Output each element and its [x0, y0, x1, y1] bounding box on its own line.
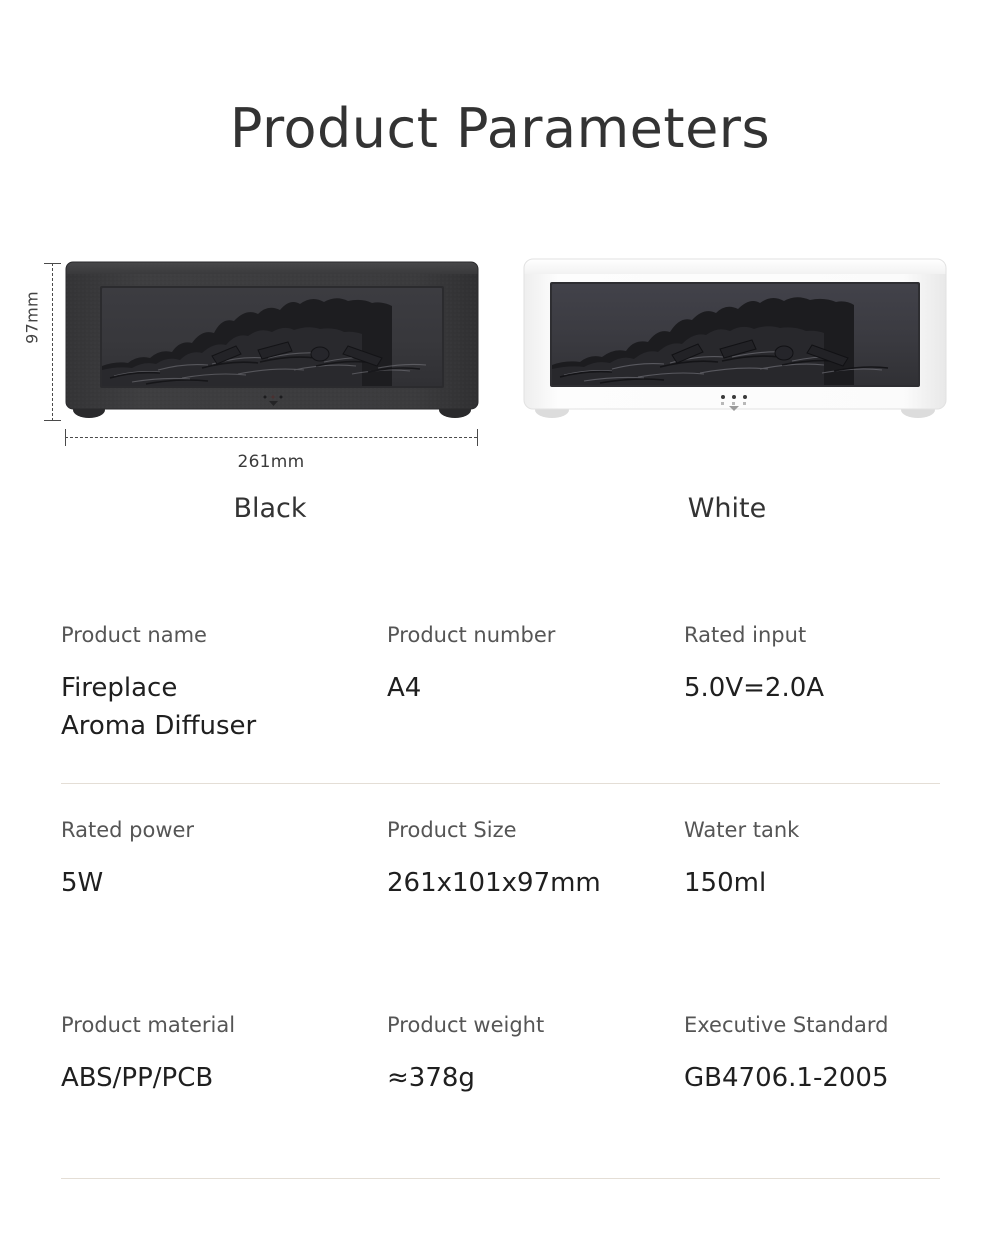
spec-label: Water tank: [684, 817, 974, 844]
spec-label: Product Size: [387, 817, 667, 844]
spec-value-line: Aroma Diffuser: [61, 708, 371, 746]
spec-value: A4: [387, 670, 667, 708]
spec-label: Rated power: [61, 817, 371, 844]
spec-row: Rated power 5W Product Size 261x101x97mm…: [0, 817, 1000, 1012]
height-dimension-line: [52, 263, 53, 421]
spec-cell: Product number A4: [387, 622, 667, 708]
spec-cell: Rated power 5W: [61, 817, 371, 903]
spec-value: 5W: [61, 865, 371, 903]
spec-row: Product name Fireplace Aroma Diffuser Pr…: [0, 622, 1000, 817]
spec-value-line: GB4706.1-2005: [684, 1060, 974, 1098]
width-dimension-cap-left: [65, 429, 66, 446]
spec-value-line: A4: [387, 670, 667, 708]
spec-label: Rated input: [684, 622, 974, 649]
spec-label: Product name: [61, 622, 371, 649]
height-dimension-cap-bottom: [44, 420, 61, 421]
spec-value-line: 150ml: [684, 865, 974, 903]
spec-value-line: 5W: [61, 865, 371, 903]
spec-cell: Executive Standard GB4706.1-2005: [684, 1012, 974, 1098]
spec-cell: Product name Fireplace Aroma Diffuser: [61, 622, 371, 746]
spec-label: Product weight: [387, 1012, 667, 1039]
product-image-white: [520, 255, 950, 420]
spec-table: Product name Fireplace Aroma Diffuser Pr…: [0, 622, 1000, 1207]
spec-value-line: ABS/PP/PCB: [61, 1060, 371, 1098]
spec-cell: Water tank 150ml: [684, 817, 974, 903]
spec-value-line: ≈378g: [387, 1060, 667, 1098]
spec-value: ≈378g: [387, 1060, 667, 1098]
spec-value: Fireplace Aroma Diffuser: [61, 670, 371, 745]
spec-row: Product material ABS/PP/PCB Product weig…: [0, 1012, 1000, 1207]
product-caption-black: Black: [120, 493, 420, 524]
width-dimension-label: 261mm: [65, 452, 477, 472]
spec-value-line: 261x101x97mm: [387, 865, 667, 903]
spec-cell: Product weight ≈378g: [387, 1012, 667, 1098]
spec-value: 261x101x97mm: [387, 865, 667, 903]
spec-cell: Rated input 5.0V=2.0A: [684, 622, 974, 708]
spec-value: ABS/PP/PCB: [61, 1060, 371, 1098]
spec-label: Product material: [61, 1012, 371, 1039]
spec-value-line: 5.0V=2.0A: [684, 670, 974, 708]
height-dimension-cap-top: [44, 263, 61, 264]
product-image-black: [62, 258, 482, 418]
product-caption-white: White: [577, 493, 877, 524]
spec-value-line: Fireplace: [61, 670, 371, 708]
spec-value: 5.0V=2.0A: [684, 670, 974, 708]
spec-row-divider: [61, 783, 940, 784]
height-dimension-label: 97mm: [23, 278, 42, 358]
spec-label: Executive Standard: [684, 1012, 974, 1039]
spec-value: 150ml: [684, 865, 974, 903]
page-title: Product Parameters: [0, 98, 1000, 160]
spec-cell: Product Size 261x101x97mm: [387, 817, 667, 903]
spec-value: GB4706.1-2005: [684, 1060, 974, 1098]
width-dimension-line: [65, 437, 477, 438]
spec-label: Product number: [387, 622, 667, 649]
spec-cell: Product material ABS/PP/PCB: [61, 1012, 371, 1098]
width-dimension-cap-right: [477, 429, 478, 446]
